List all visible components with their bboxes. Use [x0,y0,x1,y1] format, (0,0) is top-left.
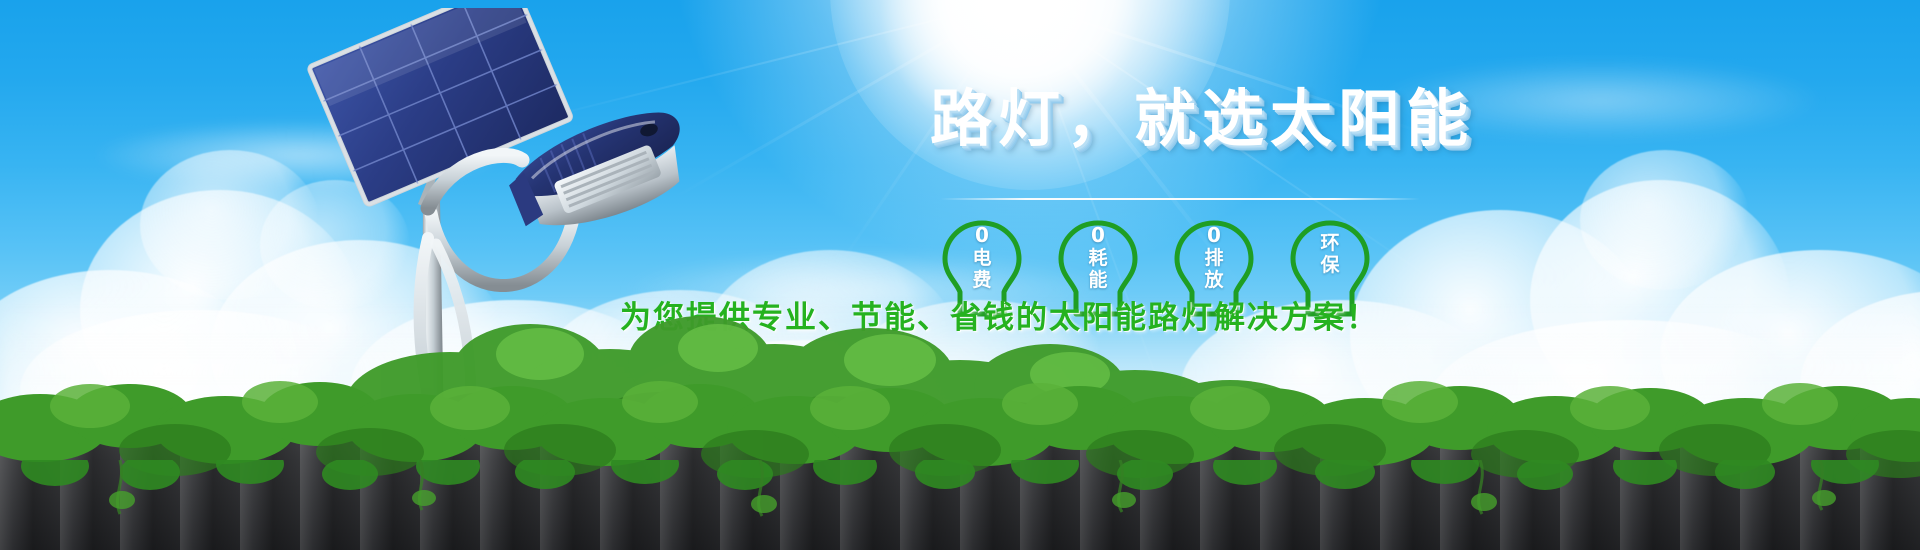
headline-divider [940,198,1420,200]
bulb-text: 环保 [1286,232,1374,276]
bulb-text: 0 电费 [938,224,1026,291]
bulb-text: 0 排放 [1170,224,1258,291]
page-title: 路灯，就选太阳能 [930,88,1474,150]
bulb-word-line1: 电 [938,247,1026,269]
wall-cap [0,420,1920,442]
bulb-zero: 0 [1054,224,1142,247]
bulb-text: 0 耗能 [1054,224,1142,291]
bulb-word-line1: 耗 [1054,247,1142,269]
bulb-word-line2: 保 [1286,254,1374,276]
bulb-zero: 0 [1170,224,1258,247]
solar-street-light-banner: 路灯，就选太阳能 0 电费 0 耗能 [0,0,1920,550]
bulb-word-line1: 排 [1170,247,1258,269]
bulb-word-line1: 环 [1286,232,1374,254]
bulb-zero: 0 [938,224,1026,247]
